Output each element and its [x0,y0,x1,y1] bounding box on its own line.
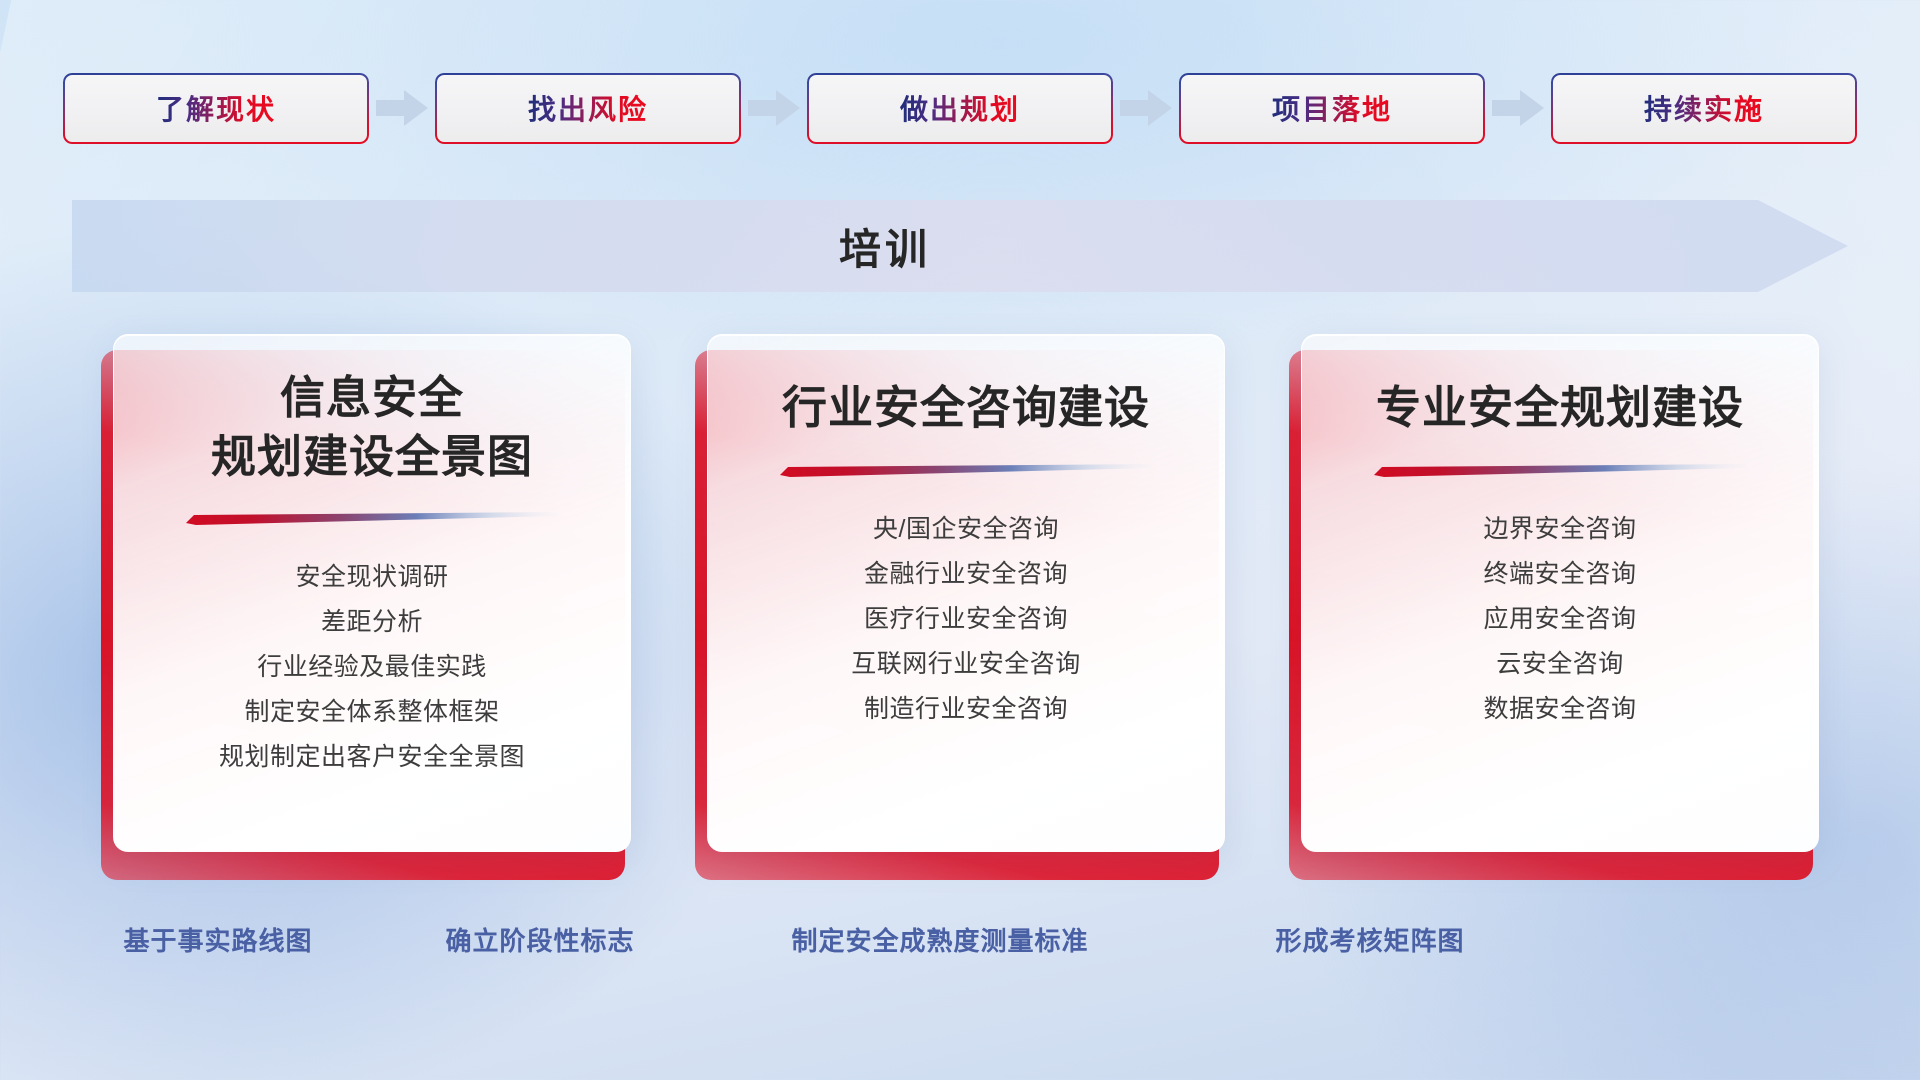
training-banner-label: 培训 [72,192,1848,300]
card-divider-1 [780,464,1152,477]
caption-3: 形成考核矩阵图 [1200,912,1540,966]
list-item: 应用安全咨询 [1316,597,1804,642]
list-item: 安全现状调研 [128,555,616,600]
step-arrow-icon-3 [1485,85,1551,131]
step-arrow-icon-2 [1113,85,1179,131]
step-chip-2[interactable]: 做出规划 [807,73,1113,144]
card-title-line: 专业安全规划建设 [1376,379,1744,438]
card-title-line: 规划建设全景图 [211,428,533,487]
step-chip-label-0: 了解现状 [156,88,276,128]
card-list-1: 央/国企安全咨询 金融行业安全咨询 医疗行业安全咨询 互联网行业安全咨询 制造行… [708,507,1224,732]
card-divider-0 [186,512,558,525]
step-chip-0[interactable]: 了解现状 [63,73,369,144]
card-divider-2 [1374,464,1746,477]
list-item: 规划制定出客户安全全景图 [128,735,616,780]
list-item: 制造行业安全咨询 [722,687,1210,732]
caption-row: 基于事实路线图 确立阶段性标志 制定安全成熟度测量标准 形成考核矩阵图 [0,912,1920,966]
card-title-line: 行业安全咨询建设 [782,379,1150,438]
card-slot-2: 专业安全规划建设 [1289,334,1819,880]
step-chip-1[interactable]: 找出风险 [435,73,741,144]
card-list-0: 安全现状调研 差距分析 行业经验及最佳实践 制定安全体系整体框架 规划制定出客户… [114,555,630,780]
card-title-0: 信息安全 规划建设全景图 [189,369,555,486]
list-item: 金融行业安全咨询 [722,552,1210,597]
list-item: 互联网行业安全咨询 [722,642,1210,687]
step-flow: 了解现状 找出风险 做出规划 项目落地 持续实施 [0,72,1920,144]
caption-2: 制定安全成熟度测量标准 [720,912,1160,966]
list-item: 央/国企安全咨询 [722,507,1210,552]
step-item-2[interactable]: 做出规划 [807,73,1113,144]
list-item: 终端安全咨询 [1316,552,1804,597]
list-item: 制定安全体系整体框架 [128,690,616,735]
cards-row: 信息安全 规划建设全景图 [0,334,1920,880]
step-chip-label-4: 持续实施 [1644,88,1764,128]
card-title-line: 信息安全 [211,369,533,428]
list-item: 差距分析 [128,600,616,645]
card-1[interactable]: 行业安全咨询建设 [707,334,1225,852]
list-item: 云安全咨询 [1316,642,1804,687]
card-list-2: 边界安全咨询 终端安全咨询 应用安全咨询 云安全咨询 数据安全咨询 [1302,507,1818,732]
step-arrow-icon-0 [369,85,435,131]
caption-1: 确立阶段性标志 [400,912,680,966]
list-item: 行业经验及最佳实践 [128,645,616,690]
list-item: 边界安全咨询 [1316,507,1804,552]
training-banner: 培训 [72,192,1848,300]
step-chip-3[interactable]: 项目落地 [1179,73,1485,144]
step-arrow-icon-1 [741,85,807,131]
list-item: 医疗行业安全咨询 [722,597,1210,642]
step-item-4[interactable]: 持续实施 [1551,73,1857,144]
card-title-2: 专业安全规划建设 [1354,379,1766,438]
card-0[interactable]: 信息安全 规划建设全景图 [113,334,631,852]
step-chip-label-3: 项目落地 [1272,88,1392,128]
step-item-0[interactable]: 了解现状 [63,73,369,144]
list-item: 数据安全咨询 [1316,687,1804,732]
card-slot-1: 行业安全咨询建设 [695,334,1225,880]
step-item-1[interactable]: 找出风险 [435,73,741,144]
step-chip-4[interactable]: 持续实施 [1551,73,1857,144]
step-chip-label-1: 找出风险 [528,88,648,128]
caption-0: 基于事实路线图 [88,912,348,966]
step-item-3[interactable]: 项目落地 [1179,73,1485,144]
card-slot-0: 信息安全 规划建设全景图 [101,334,631,880]
card-title-1: 行业安全咨询建设 [760,379,1172,438]
step-chip-label-2: 做出规划 [900,88,1020,128]
card-2[interactable]: 专业安全规划建设 [1301,334,1819,852]
